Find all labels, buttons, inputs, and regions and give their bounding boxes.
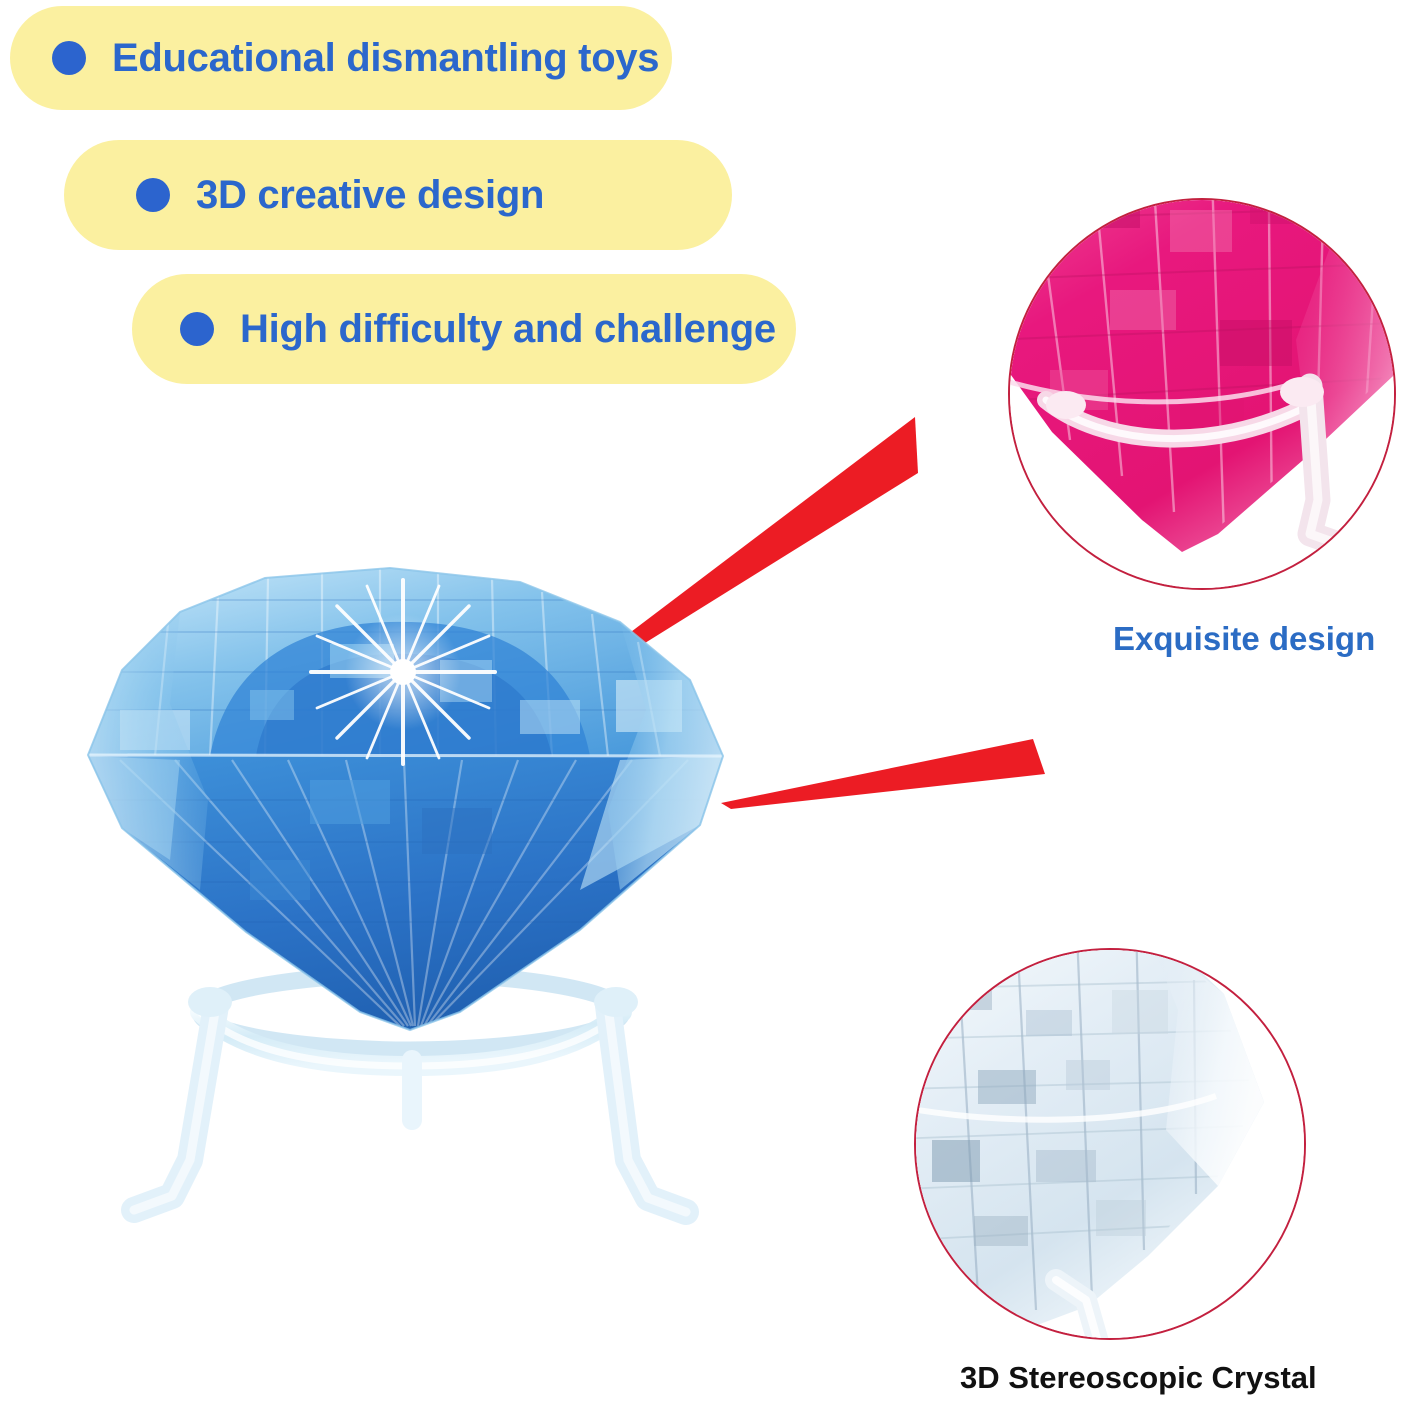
feature-label-1: Educational dismantling toys (112, 38, 659, 78)
bullet-dot-icon (180, 312, 214, 346)
callout-stereoscopic-crystal (914, 948, 1306, 1340)
feature-label-3: High difficulty and challenge (240, 309, 776, 349)
clear-crystal-closeup-image (914, 948, 1306, 1340)
infographic-canvas: Educational dismantling toys 3D creative… (0, 0, 1410, 1408)
feature-pill-2: 3D creative design (64, 140, 732, 250)
feature-pill-3: High difficulty and challenge (132, 274, 796, 384)
pink-crystal-closeup-image (1008, 198, 1396, 590)
callout-exquisite-design (1008, 198, 1396, 590)
bullet-dot-icon (136, 178, 170, 212)
main-product-image (60, 560, 780, 1260)
feature-label-2: 3D creative design (196, 175, 544, 215)
feature-pill-1: Educational dismantling toys (10, 6, 672, 110)
caption-exquisite-design: Exquisite design (1113, 622, 1375, 655)
bullet-dot-icon (52, 41, 86, 75)
caption-stereoscopic-crystal: 3D Stereoscopic Crystal (960, 1362, 1317, 1393)
starburst-sparkle-icon (311, 580, 495, 764)
